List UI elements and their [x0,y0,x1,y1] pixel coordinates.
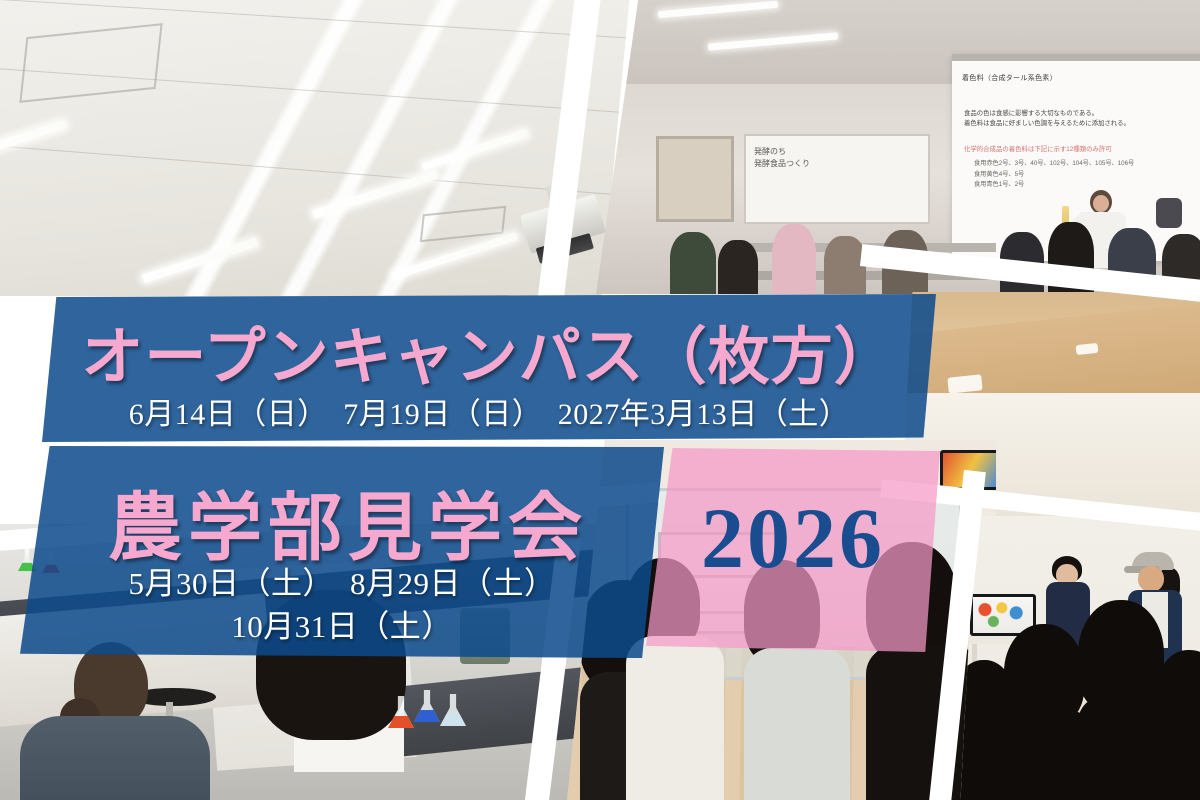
agriculture-tour-banner: 農学部見学会 5月30日（土） 8月29日（土） 10月31日（土） [20,446,664,658]
photo-lecture-room-ceiling [0,0,630,296]
ceiling-light [312,170,438,219]
whiteboard-note: 発酵のち発酵食品つくり [754,146,810,169]
slide-list-line2: 食用黄色4号、5号 [974,170,1134,181]
whiteboard: 発酵のち発酵食品つくり [744,134,930,224]
slide-body-line1: 食品の色は食感に影響する大切なものである。 [964,109,1130,119]
ceiling-light [142,238,259,284]
staff-face [1138,566,1164,592]
student-body [20,716,210,800]
audience-member [718,240,758,294]
ceiling-tile [19,23,162,103]
presenter-face [1093,195,1109,212]
slide-list: 食用赤色2号、3号、40号、102号、104号、105号、106号 食用黄色4号… [974,159,1134,191]
open-campus-poster: 発酵のち発酵食品つくり 着色料（合成タール系色素） 食品の色は食感に影響する大切… [0,0,1200,800]
slide-body-line2: 着色料は食品に好ましい色調を与えるために添加される。 [964,119,1130,129]
student-body [626,636,724,800]
chair [1156,198,1182,228]
photo-tv-presentation-room [960,516,1200,800]
ceiling-light [421,129,528,171]
open-campus-banner: オープンキャンパス（枚方） 6月14日（日） 7月19日（日） 2027年3月1… [42,294,936,442]
student [20,642,200,800]
open-campus-title: オープンキャンパス（枚方） [42,306,936,396]
agriculture-tour-dates-line1: 5月30日（土） 8月29日（土） [20,558,664,603]
slide-body: 食品の色は食感に影響する大切なものである。 着色料は食品に好ましい色調を与えるた… [964,109,1130,130]
slide-list-line1: 食用赤色2号、3号、40号、102号、104号、105号、106号 [974,159,1134,170]
slide-list-line3: 食用青色1号、2号 [974,180,1134,191]
year-badge: 2026 [646,448,940,652]
slide-highlight: 化学的合成品の着色料は下記に示す12種類のみ許可 [964,145,1112,155]
ceiling-light [392,232,518,280]
ceiling-grid-line [0,145,629,196]
cork-board [656,136,734,222]
audience-member [772,224,816,294]
agriculture-tour-dates-line2: 10月31日（土） [20,601,664,646]
slide-title: 着色料（合成タール系色素） [962,73,1057,83]
ceiling-light [0,119,67,157]
student-body [744,648,850,800]
year-badge-value: 2026 [646,488,940,588]
open-campus-dates: 6月14日（日） 7月19日（日） 2027年3月13日（土） [42,389,936,433]
student-body [1156,724,1200,800]
audience-member [670,232,716,294]
student-hair [1004,624,1084,724]
student [1156,650,1200,800]
ceiling-tile [420,206,506,242]
